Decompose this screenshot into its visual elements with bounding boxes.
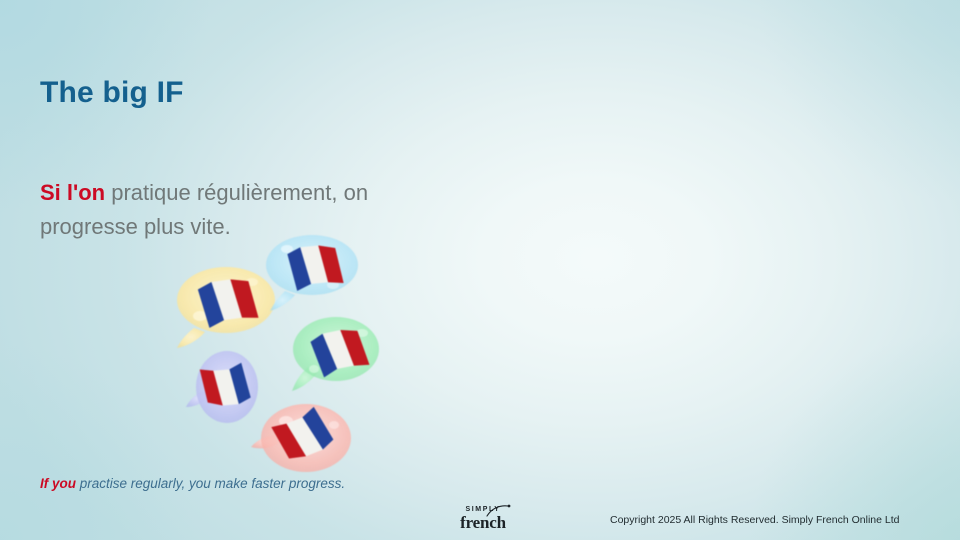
english-translation: If you practise regularly, you make fast…: [40, 476, 345, 491]
speech-bubble-pink-icon: [250, 393, 354, 483]
logo: SIMPLY french: [450, 505, 516, 535]
speech-bubble-green-icon: [288, 311, 382, 399]
speech-bubble-blue-icon: [263, 229, 361, 313]
slide: The big IF Si l'on pratique régulièremen…: [0, 0, 960, 540]
logo-main-word: french: [450, 514, 516, 531]
english-translation-highlight: If you: [40, 476, 76, 491]
slide-content: The big IF Si l'on pratique régulièremen…: [0, 0, 960, 540]
page-title: The big IF: [40, 76, 184, 110]
copyright-notice: Copyright 2025 All Rights Reserved. Simp…: [610, 514, 899, 526]
speech-bubbles-illustration: [160, 225, 390, 475]
english-translation-body: practise regularly, you make faster prog…: [76, 476, 345, 491]
french-sentence-highlight: Si l'on: [40, 180, 105, 205]
